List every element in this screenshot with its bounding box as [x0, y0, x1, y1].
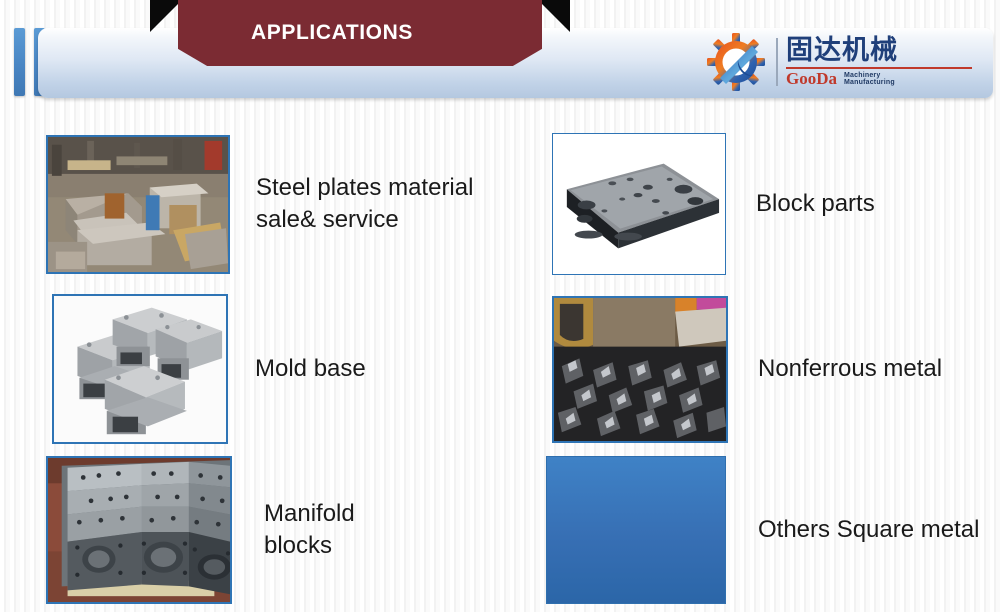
metal-chips-photo [554, 298, 726, 441]
blue-placeholder-image [547, 457, 725, 603]
company-logo: 固达机械 GooDa Machinery Manufacturing [706, 29, 978, 95]
slide-canvas: APPLICATIONS [0, 0, 1000, 612]
applications-grid: Steel plates material sale& service [0, 112, 1000, 612]
application-item-label: Nonferrous metal [758, 353, 992, 385]
application-item: Steel plates material sale& service [46, 133, 516, 275]
logo-bottom-row: GooDa Machinery Manufacturing [786, 70, 978, 87]
application-item: Manifold blocks [46, 456, 516, 604]
logo-divider [776, 38, 778, 86]
application-item-label: Others Square metal [758, 514, 996, 546]
header-accent-bar-1 [14, 28, 25, 96]
logo-tagline: Machinery Manufacturing [844, 72, 895, 87]
application-item-label: Manifold blocks [264, 498, 516, 561]
mold-base-thumbnail [52, 294, 228, 444]
manifold-blocks-thumbnail [46, 456, 232, 604]
manifold-blocks-photo [48, 458, 230, 602]
application-item: Mold base [52, 294, 512, 444]
steel-plates-thumbnail [46, 135, 230, 274]
application-item: Others Square metal [546, 456, 996, 604]
block-parts-thumbnail [552, 133, 726, 275]
application-item-label: Steel plates material sale& service [256, 172, 516, 235]
title-ribbon: APPLICATIONS [150, 0, 570, 66]
application-item-label: Mold base [255, 353, 512, 385]
others-square-metal-thumbnail [546, 456, 726, 604]
logo-brand-name: GooDa [786, 70, 837, 87]
slide-header: APPLICATIONS [0, 0, 1000, 112]
application-item-label: Block parts [756, 188, 992, 220]
page-title: APPLICATIONS [150, 0, 514, 66]
application-item: Nonferrous metal [552, 294, 992, 444]
logo-tagline-line-2: Manufacturing [844, 79, 895, 86]
logo-chinese-name: 固达机械 [786, 37, 978, 65]
logo-text-block: 固达机械 GooDa Machinery Manufacturing [786, 37, 978, 86]
steel-plates-photo [48, 137, 228, 272]
nonferrous-metal-thumbnail [552, 296, 728, 443]
ribbon-tail-right-icon [538, 0, 570, 32]
block-parts-photo [553, 134, 725, 274]
logo-tagline-line-1: Machinery [844, 72, 895, 79]
application-item: Block parts [552, 133, 992, 275]
gear-icon [706, 32, 770, 92]
mold-bases-photo [54, 296, 226, 442]
